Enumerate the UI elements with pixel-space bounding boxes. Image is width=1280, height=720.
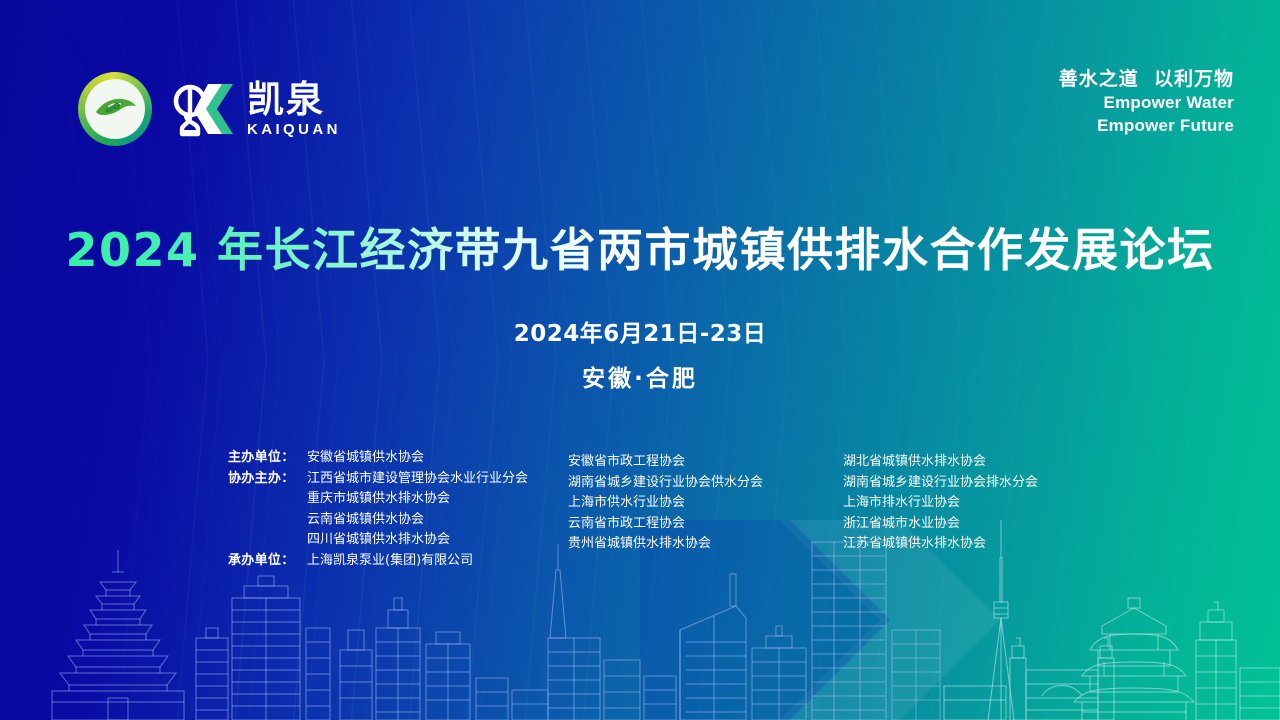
tagline: 善水之道 以利万物 Empower Water Empower Future — [1059, 68, 1234, 137]
skyline-left-towers — [196, 576, 548, 720]
organizer-name: 云南省市政工程协会 — [568, 514, 763, 535]
organizer-name: 上海凯泉泵业(集团)有限公司 — [307, 551, 473, 572]
organizer-name: 浙江省城市水业协会 — [843, 514, 1038, 535]
organizer-name: 湖南省城乡建设行业协会排水分会 — [843, 473, 1038, 494]
event-date: 2024年6月21日-23日 — [0, 314, 1280, 348]
organizer-row: 协办主办：江西省城市建设管理协会水业行业分会 — [228, 469, 528, 490]
organizers-column-3: 湖北省城镇供水排水协会湖南省城乡建设行业协会排水分会上海市排水行业协会浙江省城市… — [843, 452, 1038, 555]
organizer-name: 江苏省城镇供水排水协会 — [843, 534, 1038, 555]
organizer-name: 江西省城市建设管理协会水业行业分会 — [307, 469, 528, 490]
organizer-label: 承办单位： — [228, 551, 307, 572]
kaiquan-logo: 凯泉 KAIQUAN — [172, 81, 341, 137]
organizer-name: 贵州省城镇供水排水协会 — [568, 534, 763, 555]
kaiquan-name-cn: 凯泉 — [247, 81, 341, 118]
conference-banner: 凯泉 KAIQUAN 善水之道 以利万物 Empower Water Empow… — [0, 0, 1280, 720]
organizer-row: 主办单位：安徽省城镇供水协会 — [228, 448, 528, 469]
organizer-name: 云南省城镇供水协会 — [307, 510, 424, 531]
pagoda-left — [52, 550, 184, 720]
event-place: 安徽·合肥 — [0, 359, 1280, 393]
tagline-en-line2: Empower Future — [1059, 116, 1234, 136]
organizer-row: 承办单位：上海凯泉泵业(集团)有限公司 — [228, 551, 528, 572]
organizer-name: 湖北省城镇供水排水协会 — [843, 452, 1038, 473]
organizer-name: 上海市排水行业协会 — [843, 493, 1038, 514]
organizer-name: 上海市供水行业协会 — [568, 493, 763, 514]
banner-header: 凯泉 KAIQUAN 善水之道 以利万物 Empower Water Empow… — [0, 0, 1280, 180]
forum-title: 2024 年长江经济带九省两市城镇供排水合作发展论坛 — [0, 214, 1280, 280]
event-meta: 2024年6月21日-23日 安徽·合肥 — [0, 314, 1280, 393]
tagline-cn: 善水之道 以利万物 — [1059, 68, 1234, 90]
kaiquan-name-en: KAIQUAN — [247, 122, 341, 137]
organizer-row: 主办单位：云南省城镇供水协会 — [228, 510, 528, 531]
organizer-label: 主办单位： — [228, 448, 307, 469]
organizer-label: 协办主办： — [228, 469, 307, 490]
emblem-leaf-icon — [92, 92, 138, 126]
skyline-center-towers — [548, 544, 806, 720]
kaiquan-mark-icon — [172, 81, 236, 137]
organizers-column-2: 安徽省市政工程协会湖南省城乡建设行业协会供水分会上海市供水行业协会云南省市政工程… — [568, 452, 763, 555]
organizer-row: 主办单位：四川省城镇供水排水协会 — [228, 530, 528, 551]
organizer-name: 安徽省市政工程协会 — [568, 452, 763, 473]
organizer-name: 安徽省城镇供水协会 — [307, 448, 424, 469]
organizer-name: 四川省城镇供水排水协会 — [307, 530, 450, 551]
logo-group: 凯泉 KAIQUAN — [78, 72, 341, 146]
organizer-name: 湖南省城乡建设行业协会供水分会 — [568, 473, 763, 494]
organizer-name: 重庆市城镇供水排水协会 — [307, 489, 450, 510]
organizers-column-1: 主办单位：安徽省城镇供水协会协办主办：江西省城市建设管理协会水业行业分会主办单位… — [228, 448, 528, 571]
skyline-tall-tower — [812, 542, 940, 720]
association-emblem-icon — [78, 72, 152, 146]
tagline-en-line1: Empower Water — [1059, 93, 1234, 113]
organizer-row: 主办单位：重庆市城镇供水排水协会 — [228, 489, 528, 510]
